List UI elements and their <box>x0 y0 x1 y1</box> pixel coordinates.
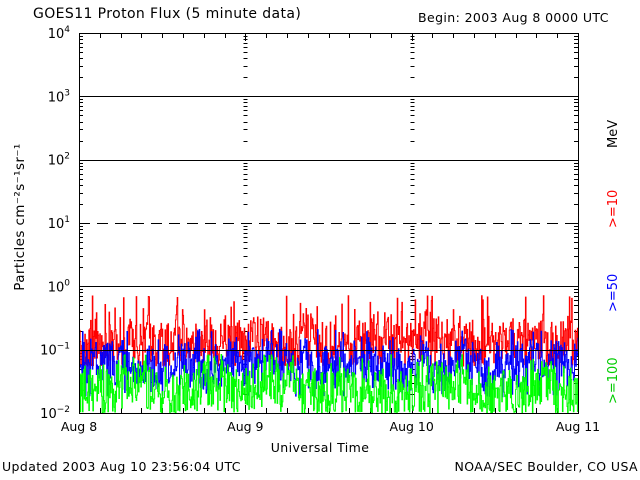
updated-timestamp: Updated 2003 Aug 10 23:56:04 UTC <box>2 459 241 474</box>
data-series-layer <box>79 296 578 413</box>
y-tick-label: 10−1 <box>40 342 70 359</box>
x-tick-label: Aug 10 <box>390 419 434 434</box>
y-tick-label: 101 <box>48 215 70 232</box>
x-axis-title: Universal Time <box>0 440 640 455</box>
y-tick-label: 102 <box>48 152 70 169</box>
x-tick-label: Aug 11 <box>556 419 600 434</box>
grid-layer <box>79 97 578 351</box>
x-tick-label: Aug 9 <box>227 419 263 434</box>
flux-chart: 10−210−1100101102103104 Aug 8Aug 9Aug 10… <box>0 0 640 480</box>
proton-flux-plot-page: GOES11 Proton Flux (5 minute data) Begin… <box>0 0 640 480</box>
y-tick-label: 104 <box>48 25 71 42</box>
data-source-label: NOAA/SEC Boulder, CO USA <box>454 459 638 474</box>
x-tick-label: Aug 8 <box>61 419 97 434</box>
y-axis-tick-labels: 10−210−1100101102103104 <box>40 25 70 422</box>
legend-unit-mev: MeV <box>606 120 621 148</box>
flux-trace-p10 <box>79 296 578 366</box>
y-tick-label: 100 <box>48 278 71 295</box>
y-tick-label: 103 <box>48 88 70 105</box>
legend-item-p10: >=10 <box>606 190 621 228</box>
x-axis-tick-labels: Aug 8Aug 9Aug 10Aug 11 <box>61 419 600 434</box>
legend-item-p100: >=100 <box>606 357 621 404</box>
legend-item-p50: >=50 <box>606 274 621 312</box>
